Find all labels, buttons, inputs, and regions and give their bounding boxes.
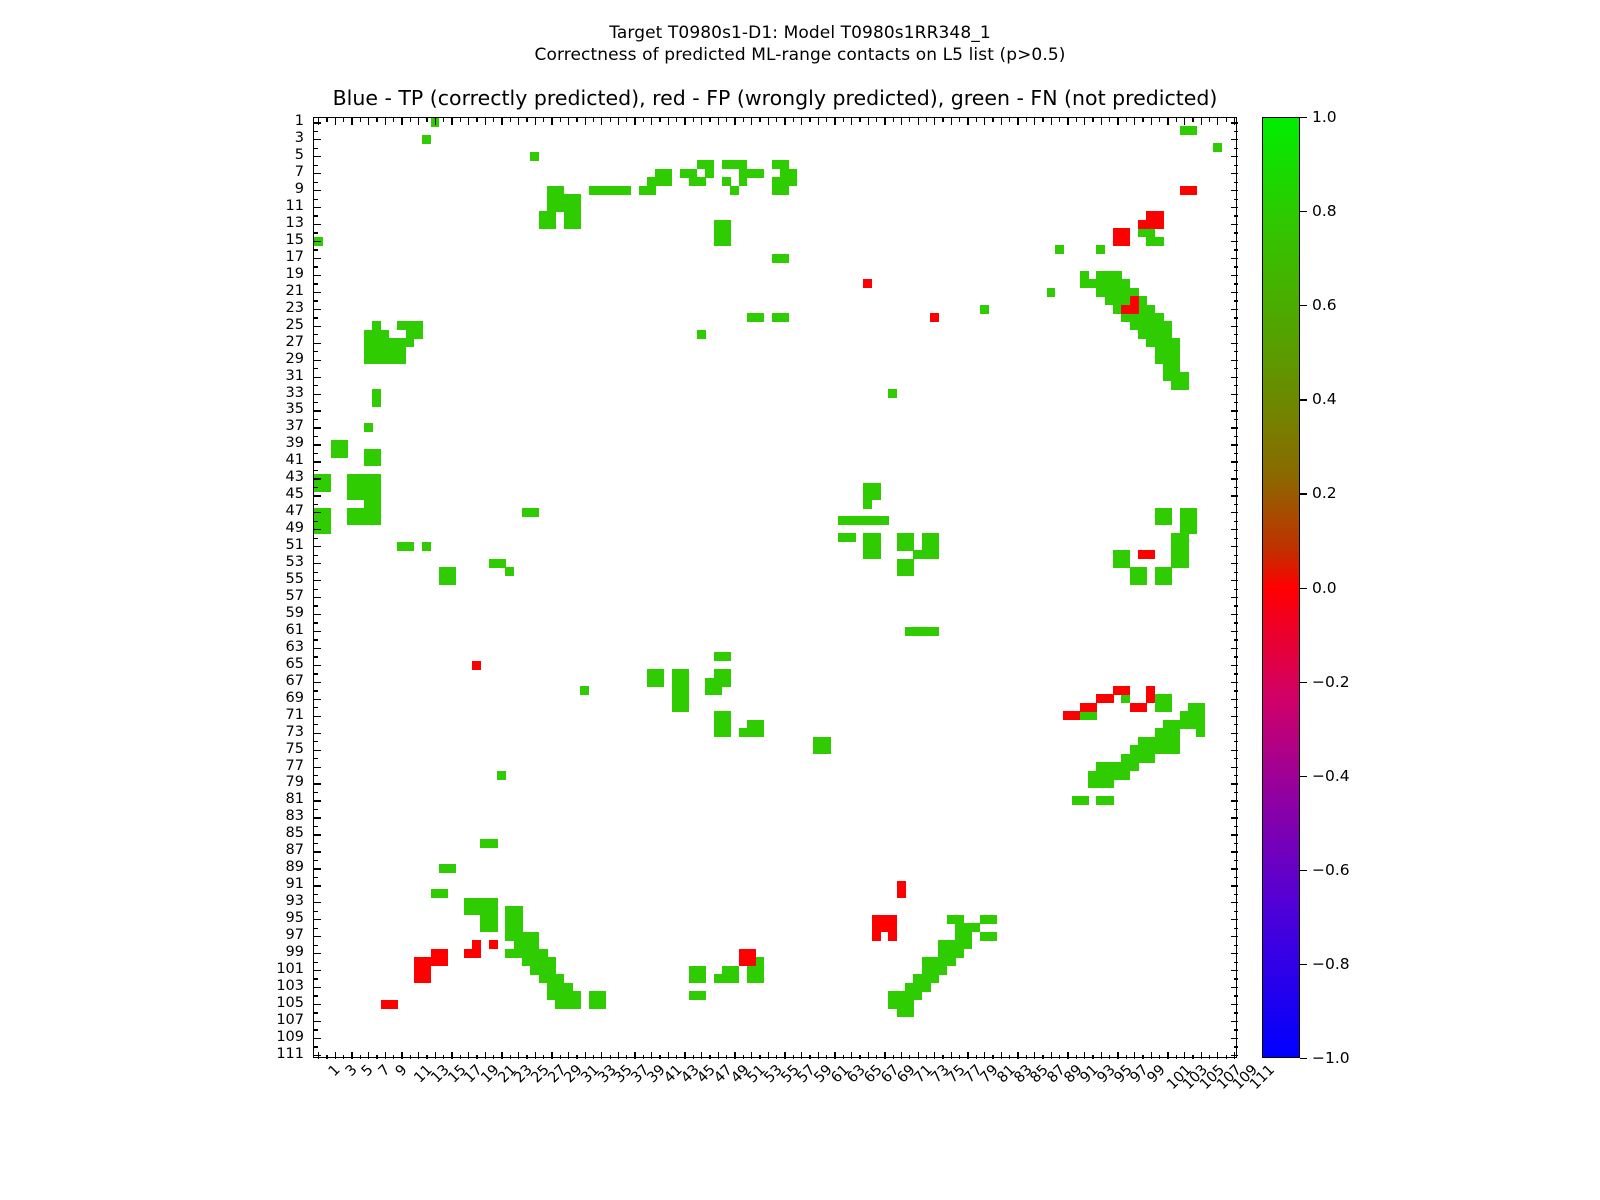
x-tick — [510, 1055, 511, 1059]
y-tick — [1231, 546, 1238, 547]
y-tick — [1234, 266, 1238, 267]
contact-cell-fp — [1121, 686, 1130, 695]
y-tick-label: 13 — [286, 215, 304, 231]
contact-cell-fn — [913, 991, 922, 1000]
contact-cell-fn — [622, 186, 631, 195]
x-tick — [1126, 118, 1127, 122]
x-tick — [401, 118, 402, 125]
contact-cell-fn — [1180, 381, 1189, 390]
x-tick — [893, 1055, 894, 1059]
contact-cell-fp — [1155, 220, 1164, 229]
y-tick-label: 93 — [286, 893, 304, 909]
x-tick — [351, 118, 352, 125]
x-tick — [1151, 1052, 1152, 1059]
contact-cell-fn — [780, 313, 789, 322]
contact-cell-fn — [1196, 728, 1205, 737]
contact-cell-fn — [930, 974, 939, 983]
y-tick — [1231, 783, 1238, 784]
y-tick-label: 89 — [286, 859, 304, 875]
x-tick — [726, 1055, 727, 1059]
x-tick — [992, 118, 993, 122]
contact-cell-fp — [1130, 305, 1139, 314]
y-tick — [314, 987, 321, 988]
x-tick — [901, 1052, 902, 1059]
y-tick — [314, 1046, 318, 1047]
x-tick — [942, 1055, 943, 1059]
y-tick — [314, 962, 318, 963]
y-tick — [1234, 792, 1238, 793]
x-tick — [485, 1052, 486, 1059]
contact-cell-fn — [988, 915, 997, 924]
contact-cell-fp — [1146, 550, 1155, 559]
x-tick — [1201, 1052, 1202, 1059]
x-tick — [726, 118, 727, 122]
y-tick — [1234, 775, 1238, 776]
y-tick — [1231, 716, 1238, 717]
x-tick — [909, 1055, 910, 1059]
x-tick — [967, 1052, 968, 1059]
x-tick — [701, 1052, 702, 1059]
y-tick — [1234, 843, 1238, 844]
contact-cell-fn — [705, 169, 714, 178]
y-tick — [1234, 995, 1238, 996]
x-tick — [684, 1052, 685, 1059]
y-tick — [314, 724, 318, 725]
y-tick — [1234, 894, 1238, 895]
y-tick — [1231, 512, 1238, 513]
x-tick — [676, 118, 677, 122]
y-tick — [1231, 665, 1238, 666]
x-tick — [618, 1052, 619, 1059]
y-tick — [314, 419, 318, 420]
x-tick — [942, 118, 943, 122]
y-tick — [314, 690, 318, 691]
axes-title-legend: Blue - TP (correctly predicted), red - F… — [313, 86, 1237, 110]
y-tick — [314, 504, 318, 505]
x-tick — [1217, 118, 1218, 125]
x-tick — [1184, 1052, 1185, 1059]
y-tick — [1234, 419, 1238, 420]
x-tick — [418, 1052, 419, 1059]
y-tick-label: 97 — [286, 927, 304, 943]
x-tick — [443, 1055, 444, 1059]
x-tick — [909, 118, 910, 122]
x-tick — [1092, 1055, 1093, 1059]
contact-cell-fn — [372, 516, 381, 525]
y-tick — [314, 478, 321, 479]
contact-cell-fn — [1146, 754, 1155, 763]
y-tick — [314, 232, 318, 233]
y-tick — [314, 309, 321, 310]
contact-cell-fn — [1163, 703, 1172, 712]
x-tick — [1126, 1055, 1127, 1059]
y-tick — [314, 851, 321, 852]
y-tick-label: 79 — [286, 774, 304, 790]
x-tick — [410, 1055, 411, 1059]
colorbar-tick — [1300, 211, 1307, 212]
y-tick — [1234, 232, 1238, 233]
y-tick — [314, 885, 321, 886]
x-tick — [1159, 118, 1160, 122]
contact-cell-fn — [755, 313, 764, 322]
contact-cell-fn — [730, 186, 739, 195]
contact-cell-fn — [572, 1000, 581, 1009]
y-tick — [1234, 622, 1238, 623]
y-tick-label: 69 — [286, 690, 304, 706]
y-tick — [1231, 767, 1238, 768]
contact-cell-fn — [447, 864, 456, 873]
colorbar-tick — [1300, 964, 1307, 965]
x-tick — [809, 1055, 810, 1059]
x-tick — [718, 118, 719, 125]
x-tick — [992, 1055, 993, 1059]
y-tick-label: 65 — [286, 656, 304, 672]
x-tick — [343, 118, 344, 122]
x-tick — [443, 118, 444, 122]
x-tick — [410, 118, 411, 122]
y-tick — [314, 928, 318, 929]
x-tick — [876, 118, 877, 122]
x-tick — [818, 1052, 819, 1059]
contact-cell-fn — [1180, 559, 1189, 568]
y-tick — [314, 444, 321, 445]
y-tick — [1231, 563, 1238, 564]
y-tick — [1231, 699, 1238, 700]
x-tick — [701, 118, 702, 125]
contact-cell-fn — [489, 839, 498, 848]
x-tick — [959, 1055, 960, 1059]
contact-cell-fn — [1121, 771, 1130, 780]
y-tick-label: 43 — [286, 469, 304, 485]
y-tick — [314, 317, 318, 318]
colorbar-tick — [1300, 682, 1307, 683]
y-tick — [314, 377, 321, 378]
x-tick — [335, 1052, 336, 1059]
title-line-2: Correctness of predicted ML-range contac… — [0, 44, 1600, 66]
y-tick — [314, 453, 318, 454]
y-tick — [1234, 877, 1238, 878]
y-tick — [314, 682, 321, 683]
y-tick — [1234, 758, 1238, 759]
contact-cell-fn — [597, 1000, 606, 1009]
x-tick — [626, 118, 627, 122]
y-tick — [314, 843, 318, 844]
x-tick — [926, 118, 927, 122]
colorbar-tick-label: 1.0 — [1312, 108, 1337, 126]
y-tick-label: 3 — [295, 130, 304, 146]
x-tick — [368, 118, 369, 125]
y-tick — [314, 919, 321, 920]
y-tick — [314, 131, 318, 132]
contact-cell-fp — [472, 949, 481, 958]
y-tick — [314, 258, 321, 259]
y-tick — [314, 1004, 321, 1005]
x-tick — [634, 118, 635, 125]
y-tick-label: 59 — [286, 605, 304, 621]
x-tick — [893, 118, 894, 122]
y-tick — [1231, 733, 1238, 734]
contact-cell-fn — [722, 652, 731, 661]
y-tick-label: 83 — [286, 808, 304, 824]
x-tick — [476, 118, 477, 122]
contact-cell-fp — [872, 932, 881, 941]
contact-cell-fp — [389, 1000, 398, 1009]
y-tick — [314, 792, 318, 793]
y-tick — [1231, 631, 1238, 632]
contact-cell-fn — [905, 567, 914, 576]
x-tick — [1017, 118, 1018, 125]
y-tick — [1231, 258, 1238, 259]
y-tick — [314, 410, 321, 411]
contact-cell-fp — [422, 974, 431, 983]
y-tick-label: 17 — [286, 249, 304, 265]
contact-cell-fn — [680, 703, 689, 712]
contact-cell-fn — [505, 567, 514, 576]
x-tick — [784, 118, 785, 125]
x-tick-label: 9 — [392, 1062, 410, 1080]
contact-cell-fn — [580, 686, 589, 695]
x-tick — [568, 118, 569, 125]
y-tick — [1231, 919, 1238, 920]
x-tick — [659, 1055, 660, 1059]
y-tick — [314, 351, 318, 352]
contact-cell-fp — [439, 957, 448, 966]
y-tick — [1234, 317, 1238, 318]
y-tick — [314, 495, 321, 496]
contact-cell-fn — [1138, 576, 1147, 585]
x-tick — [818, 118, 819, 125]
contact-cell-fn — [872, 550, 881, 559]
y-tick — [1231, 953, 1238, 954]
x-tick-label: 3 — [343, 1062, 361, 1080]
y-tick — [314, 122, 321, 123]
contact-cell-fn — [572, 220, 581, 229]
x-tick — [801, 118, 802, 125]
y-tick-label: 95 — [286, 910, 304, 926]
x-tick — [976, 118, 977, 122]
y-tick — [1231, 410, 1238, 411]
y-tick — [314, 402, 318, 403]
y-tick — [1234, 521, 1238, 522]
y-tick — [314, 894, 318, 895]
y-tick — [1231, 394, 1238, 395]
y-tick — [1234, 928, 1238, 929]
colorbar-tick-label: 0.2 — [1312, 484, 1337, 502]
x-tick — [1051, 1052, 1052, 1059]
y-tick — [1231, 936, 1238, 937]
contact-map-plot[interactable] — [313, 117, 1237, 1058]
y-tick — [314, 936, 321, 937]
x-tick — [1034, 1052, 1035, 1059]
x-tick — [1142, 1055, 1143, 1059]
y-tick — [314, 224, 321, 225]
contact-cell-fp — [863, 279, 872, 288]
x-tick — [1176, 118, 1177, 122]
colorbar-tick-label: 0.0 — [1312, 579, 1337, 597]
x-tick — [751, 118, 752, 125]
x-tick — [668, 1052, 669, 1059]
contact-cell-fn — [1171, 745, 1180, 754]
x-tick — [326, 1055, 327, 1059]
x-tick — [501, 1052, 502, 1059]
x-tick — [859, 1055, 860, 1059]
y-tick-label: 99 — [286, 944, 304, 960]
y-tick — [1234, 826, 1238, 827]
colorbar-tick-label: −0.2 — [1312, 673, 1350, 691]
x-tick — [1026, 1055, 1027, 1059]
y-tick — [314, 648, 321, 649]
contact-cell-fn — [322, 525, 331, 534]
x-tick — [585, 118, 586, 125]
y-tick — [314, 978, 318, 979]
y-tick — [1234, 215, 1238, 216]
x-tick — [1084, 118, 1085, 125]
y-tick — [314, 461, 321, 462]
x-tick — [926, 1055, 927, 1059]
y-tick — [314, 521, 318, 522]
x-tick — [1176, 1055, 1177, 1059]
y-tick — [1231, 597, 1238, 598]
contact-cell-fp — [472, 661, 481, 670]
y-tick — [314, 139, 321, 140]
x-tick — [668, 118, 669, 125]
x-tick — [1151, 118, 1152, 125]
x-tick — [551, 1052, 552, 1059]
y-tick — [1231, 461, 1238, 462]
x-tick — [368, 1052, 369, 1059]
y-tick-label: 45 — [286, 486, 304, 502]
y-tick-label: 23 — [286, 300, 304, 316]
contact-cell-fn — [1047, 288, 1056, 297]
x-tick — [693, 1055, 694, 1059]
colorbar-tick — [1300, 870, 1307, 871]
x-tick — [551, 118, 552, 125]
y-tick — [314, 538, 318, 539]
colorbar-tick-label: −0.6 — [1312, 861, 1350, 879]
y-tick — [1234, 978, 1238, 979]
x-tick — [360, 118, 361, 122]
contact-cell-fn — [1080, 796, 1089, 805]
y-tick — [314, 292, 321, 293]
y-tick — [1234, 741, 1238, 742]
contact-cell-fn — [372, 398, 381, 407]
y-tick — [314, 385, 318, 386]
y-tick — [1231, 1021, 1238, 1022]
title-line-1: Target T0980s1-D1: Model T0980s1RR348_1 — [0, 22, 1600, 44]
x-tick — [693, 118, 694, 122]
contact-cell-fn — [922, 983, 931, 992]
x-tick — [601, 118, 602, 125]
x-tick — [1117, 118, 1118, 125]
x-tick — [859, 118, 860, 122]
x-tick — [1184, 118, 1185, 125]
y-tick — [314, 529, 321, 530]
y-tick — [314, 758, 318, 759]
colorbar-tick — [1300, 776, 1307, 777]
y-tick — [314, 589, 318, 590]
contact-cell-fn — [422, 542, 431, 551]
y-tick — [1234, 639, 1238, 640]
y-tick — [314, 741, 318, 742]
x-tick — [385, 118, 386, 125]
y-tick — [314, 334, 318, 335]
contact-cell-fn — [947, 957, 956, 966]
x-tick — [868, 118, 869, 125]
y-tick — [1231, 682, 1238, 683]
x-tick — [884, 118, 885, 125]
contact-cell-fn — [872, 491, 881, 500]
x-tick — [593, 118, 594, 122]
y-tick — [1234, 1046, 1238, 1047]
y-tick-label: 57 — [286, 588, 304, 604]
y-tick — [314, 427, 321, 428]
y-tick — [314, 436, 318, 437]
x-tick — [1034, 118, 1035, 125]
colorbar-tick-label: 0.4 — [1312, 390, 1337, 408]
y-tick — [1234, 249, 1238, 250]
x-tick — [610, 118, 611, 122]
contact-cell-fn — [406, 542, 415, 551]
contact-cell-fn — [647, 186, 656, 195]
y-tick — [1234, 148, 1238, 149]
x-tick — [959, 118, 960, 122]
x-tick — [1092, 118, 1093, 122]
contact-cell-fp — [489, 940, 498, 949]
y-axis-tick-labels: 1357911131517192123252729313335373941434… — [241, 117, 304, 1058]
y-tick — [314, 699, 321, 700]
y-tick — [1234, 707, 1238, 708]
x-tick — [1101, 1052, 1102, 1059]
x-tick — [984, 1052, 985, 1059]
figure-title-block: Target T0980s1-D1: Model T0980s1RR348_1 … — [0, 22, 1600, 66]
y-tick — [1234, 656, 1238, 657]
contact-cell-fn — [530, 508, 539, 517]
x-tick — [610, 1055, 611, 1059]
contact-cell-fn — [980, 305, 989, 314]
x-tick — [1001, 118, 1002, 125]
y-tick — [1231, 902, 1238, 903]
y-tick — [1231, 478, 1238, 479]
y-tick — [1231, 309, 1238, 310]
x-tick — [435, 1052, 436, 1059]
x-tick — [493, 118, 494, 122]
x-tick — [526, 118, 527, 122]
y-tick — [314, 555, 318, 556]
contact-cell-fn — [547, 220, 556, 229]
y-tick-label: 85 — [286, 825, 304, 841]
contact-cell-fn — [905, 1008, 914, 1017]
y-tick — [1234, 605, 1238, 606]
y-tick-label: 47 — [286, 503, 304, 519]
contact-cell-fn — [955, 949, 964, 958]
x-tick — [684, 118, 685, 125]
x-tick — [1009, 118, 1010, 122]
y-tick — [314, 783, 321, 784]
y-tick — [1231, 326, 1238, 327]
x-tick — [1059, 118, 1060, 122]
contact-cell-fn — [439, 889, 448, 898]
contact-cell-fp — [1072, 711, 1081, 720]
x-tick — [834, 1052, 835, 1059]
y-tick — [1231, 648, 1238, 649]
y-tick — [1234, 368, 1238, 369]
x-tick — [560, 118, 561, 122]
y-tick — [1234, 572, 1238, 573]
x-tick — [1209, 1055, 1210, 1059]
y-tick — [314, 394, 321, 395]
colorbar-tick — [1300, 305, 1307, 306]
y-tick — [1231, 817, 1238, 818]
